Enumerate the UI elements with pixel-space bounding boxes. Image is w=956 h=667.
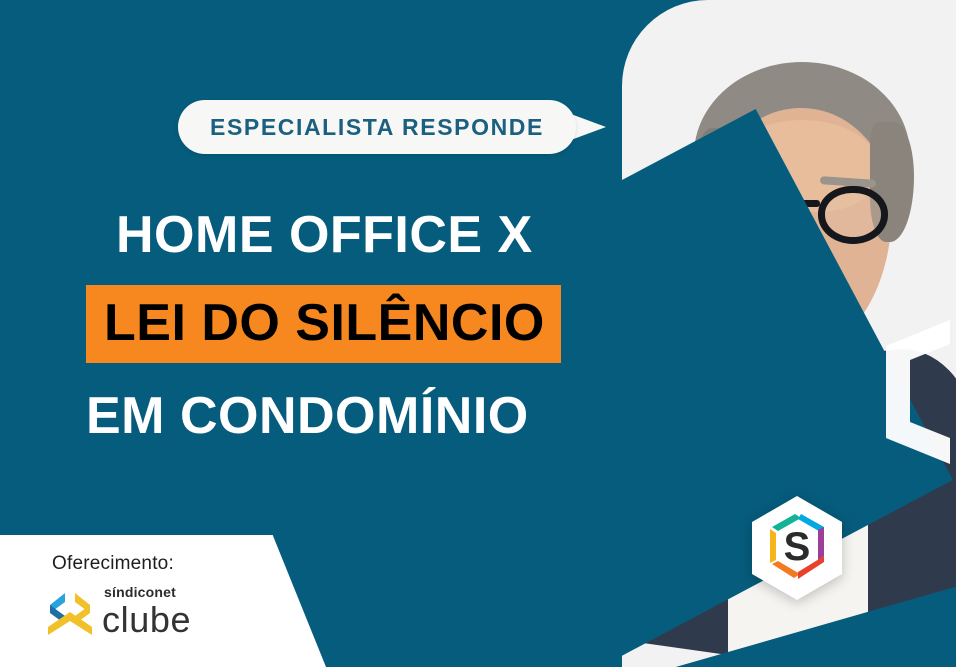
brand-top-label: síndiconet	[104, 585, 191, 599]
sponsor-label: Oferecimento:	[52, 553, 174, 575]
sindiconet-clube-logo-icon	[46, 587, 94, 637]
sponsor-card-content: Oferecimento: síndiconet clube	[0, 535, 280, 667]
sindiconet-clube-wordmark: síndiconet clube	[102, 585, 191, 639]
headline-line-3: EM CONDOMÍNIO	[86, 389, 616, 444]
expert-badge-label: ESPECIALISTA RESPONDE	[210, 114, 544, 141]
headline-line-1: HOME OFFICE X	[116, 208, 616, 263]
brand-main-label: clube	[102, 601, 191, 639]
expert-badge-pill: ESPECIALISTA RESPONDE	[178, 100, 576, 154]
promo-banner: ESPECIALISTA RESPONDE HOME OFFICE X LEI …	[0, 0, 956, 667]
sindiconet-hex-badge-icon: S	[748, 494, 846, 602]
headline-highlight: LEI DO SILÊNCIO	[86, 285, 561, 363]
headline-block: HOME OFFICE X LEI DO SILÊNCIO EM CONDOMÍ…	[86, 208, 616, 444]
lens-right	[818, 186, 888, 244]
sponsor-card: Oferecimento: síndiconet clube	[0, 535, 280, 667]
hex-badge-letter: S	[784, 525, 811, 569]
